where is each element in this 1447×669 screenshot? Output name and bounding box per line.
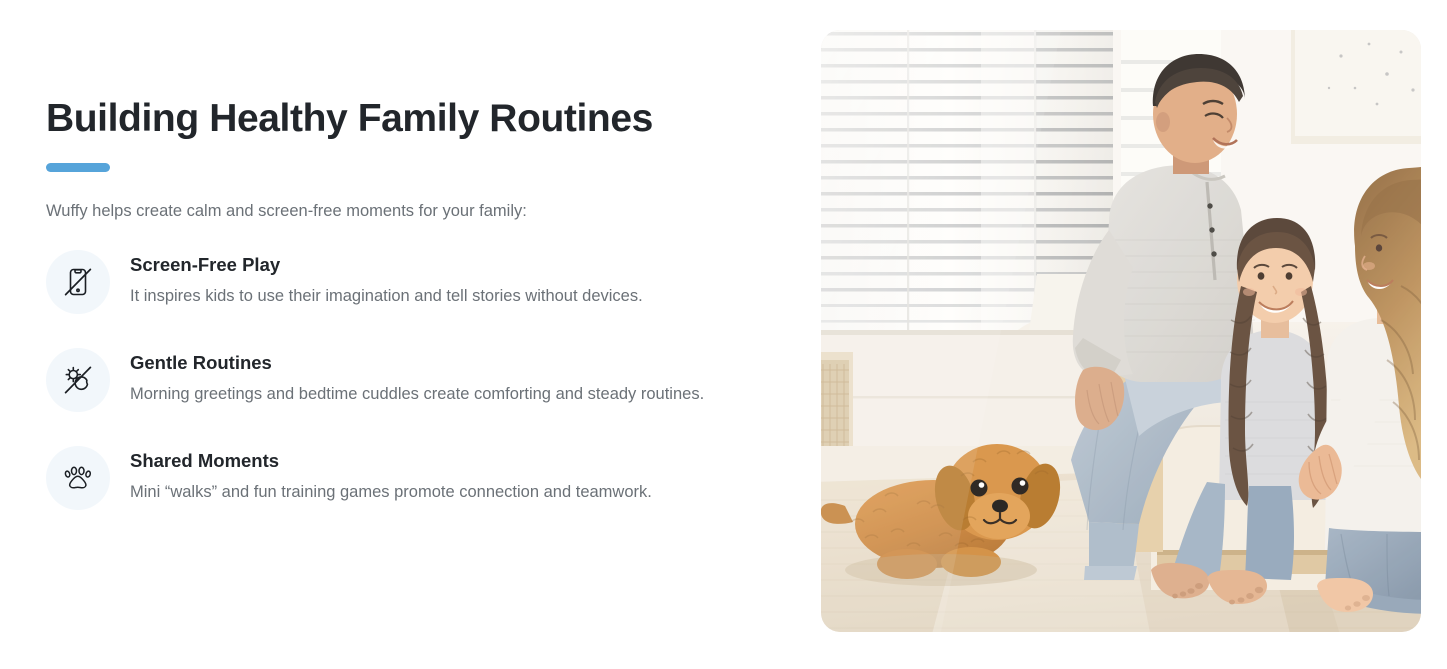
paw-print-icon	[46, 446, 110, 510]
feature-title: Gentle Routines	[130, 352, 704, 374]
feature-description: Morning greetings and bedtime cuddles cr…	[130, 381, 704, 408]
intro-paragraph: Wuffy helps create calm and screen-free …	[46, 200, 820, 224]
phone-slash-icon	[46, 250, 110, 314]
feature-title: Shared Moments	[130, 450, 652, 472]
feature-list: Screen-Free Play It inspires kids to use…	[46, 250, 820, 510]
photo-column	[820, 0, 1447, 669]
feature-item-gentle-routines: Gentle Routines Morning greetings and be…	[46, 348, 820, 412]
feature-description: It inspires kids to use their imaginatio…	[130, 283, 643, 310]
feature-item-screen-free-play: Screen-Free Play It inspires kids to use…	[46, 250, 820, 314]
feature-text-block: Gentle Routines Morning greetings and be…	[130, 348, 704, 408]
feature-text-block: Shared Moments Mini “walks” and fun trai…	[130, 446, 652, 506]
feature-description: Mini “walks” and fun training games prom…	[130, 479, 652, 506]
sun-moon-icon	[46, 348, 110, 412]
family-routines-section: Building Healthy Family Routines Wuffy h…	[0, 0, 1447, 669]
accent-underline-bar	[46, 163, 110, 172]
feature-text-block: Screen-Free Play It inspires kids to use…	[130, 250, 643, 310]
feature-item-shared-moments: Shared Moments Mini “walks” and fun trai…	[46, 446, 820, 510]
feature-title: Screen-Free Play	[130, 254, 643, 276]
family-photo	[821, 30, 1421, 632]
page-title: Building Healthy Family Routines	[46, 97, 820, 141]
content-column: Building Healthy Family Routines Wuffy h…	[0, 0, 820, 669]
